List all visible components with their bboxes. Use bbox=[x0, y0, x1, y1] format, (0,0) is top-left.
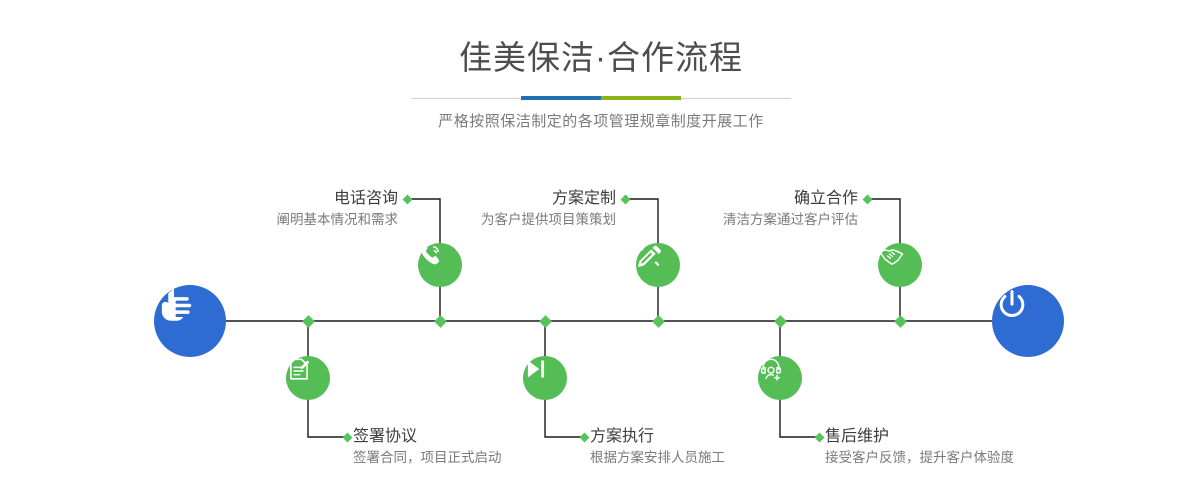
step-title-5: 确立合作 bbox=[566, 188, 858, 210]
pencil-ruler-icon bbox=[636, 243, 662, 269]
pointing-hand-icon bbox=[154, 285, 196, 327]
phone-ring-icon bbox=[418, 243, 444, 269]
step-label-5: 确立合作 清洁方案通过客户评估 bbox=[566, 188, 858, 230]
power-icon bbox=[992, 285, 1032, 325]
step-node-3[interactable] bbox=[636, 243, 680, 287]
play-next-icon bbox=[523, 356, 549, 382]
headset-support-icon bbox=[758, 356, 784, 382]
step-node-1[interactable] bbox=[418, 243, 462, 287]
step-node-6[interactable] bbox=[758, 356, 802, 400]
step-node-4[interactable] bbox=[523, 356, 567, 400]
document-edit-icon bbox=[286, 356, 312, 382]
step-node-5[interactable] bbox=[878, 243, 922, 287]
step-title-6: 售后维护 bbox=[825, 426, 1145, 448]
step-label-6: 售后维护 接受客户反馈，提升客户体验度 bbox=[825, 426, 1145, 468]
flow-end-node[interactable] bbox=[992, 285, 1064, 357]
handshake-icon bbox=[878, 243, 905, 270]
step-node-2[interactable] bbox=[286, 356, 330, 400]
step-desc-5: 清洁方案通过客户评估 bbox=[566, 210, 858, 230]
flow-start-node[interactable] bbox=[154, 285, 226, 357]
step-desc-6: 接受客户反馈，提升客户体验度 bbox=[825, 448, 1145, 468]
process-flow-diagram: 电话咨询 阐明基本情况和需求 方案定制 为客户提供项目策策划 确立合作 清洁方案… bbox=[0, 0, 1202, 502]
